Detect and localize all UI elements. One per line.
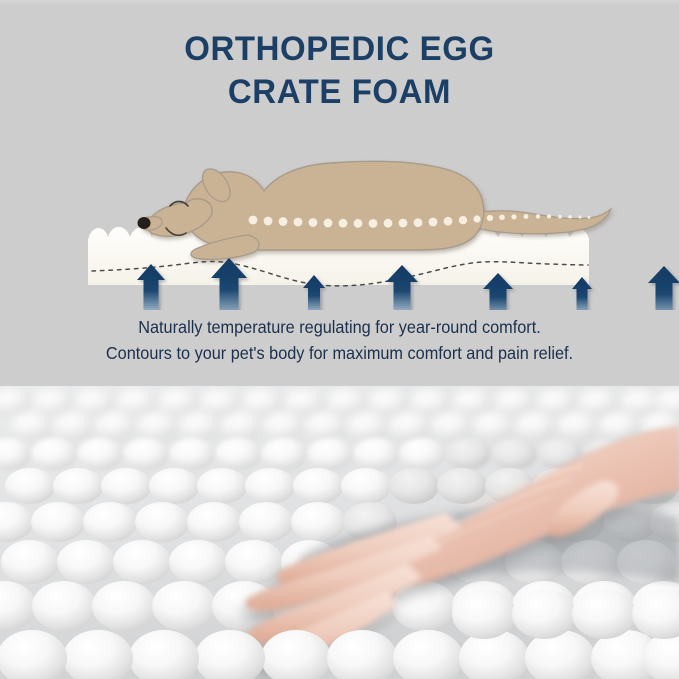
foam-support-illustration [0, 125, 679, 310]
top-info-panel: ORTHOPEDIC EGG CRATE FOAM [0, 0, 679, 386]
foam-photo [0, 386, 679, 679]
page-title-line-2: CRATE FOAM [10, 71, 669, 114]
feature-line-1: Naturally temperature regulating for yea… [24, 314, 655, 340]
page-title: ORTHOPEDIC EGG CRATE FOAM [10, 28, 669, 114]
support-arrow [648, 266, 679, 310]
feature-line-2: Contours to your pet's body for maximum … [24, 340, 655, 366]
feature-description: Naturally temperature regulating for yea… [24, 314, 655, 366]
product-infographic: ORTHOPEDIC EGG CRATE FOAM [0, 0, 679, 679]
page-title-line-1: ORTHOPEDIC EGG [184, 30, 495, 68]
dog-nose-icon [138, 217, 151, 229]
